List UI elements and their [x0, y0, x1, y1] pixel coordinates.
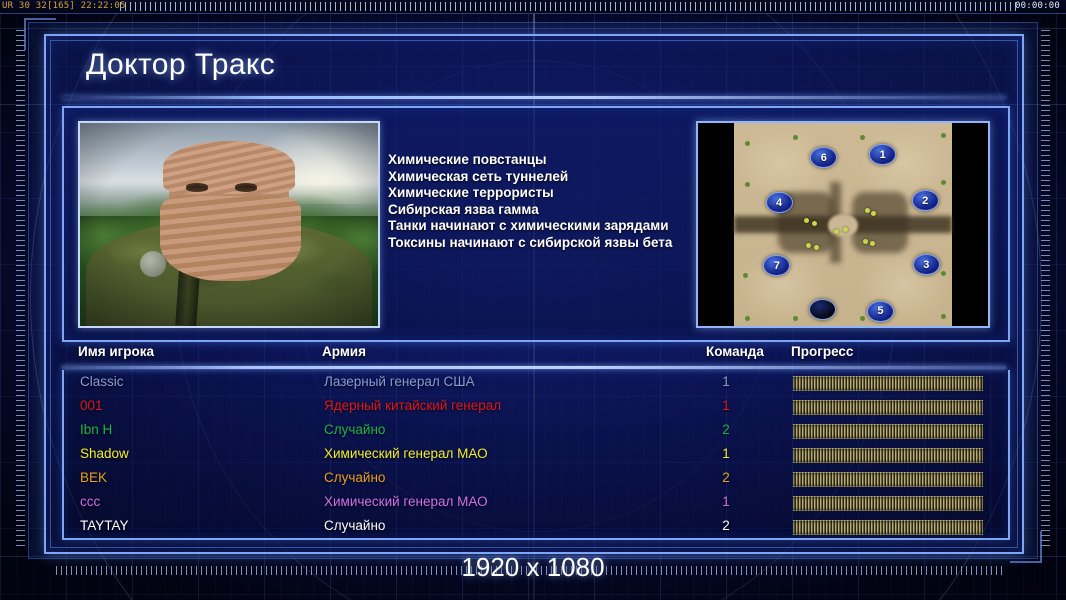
player-progress-bar — [793, 448, 983, 463]
minimap-start-4[interactable]: 4 — [766, 192, 793, 213]
player-army: Случайно — [324, 470, 385, 485]
description-line: Сибирская язва гамма — [388, 202, 738, 219]
player-progress-bar — [793, 496, 983, 511]
table-row[interactable]: TAYTAYСлучайно2 — [64, 515, 1008, 539]
player-team: 1 — [716, 374, 736, 389]
player-progress-bar — [793, 520, 983, 535]
hud-left-ruler — [16, 30, 25, 550]
player-progress-bar — [793, 472, 983, 487]
general-portrait — [78, 121, 380, 328]
table-row[interactable]: Ibn HСлучайно2 — [64, 419, 1008, 443]
page-title: Доктор Тракс — [86, 48, 275, 82]
hud-right-ruler — [1041, 30, 1050, 550]
player-team: 2 — [716, 518, 736, 533]
player-list: ClassicЛазерный генерал США1001Ядерный к… — [62, 370, 1010, 540]
player-progress-bar — [793, 376, 983, 391]
player-army: Лазерный генерал США — [324, 374, 475, 389]
player-name: Ibn H — [80, 422, 112, 437]
player-name: TAYTAY — [80, 518, 129, 533]
player-army: Случайно — [324, 518, 385, 533]
title-bar: Доктор Тракс — [62, 44, 1006, 98]
resolution-label: 1920 x 1080 — [0, 552, 1066, 583]
table-row[interactable]: ClassicЛазерный генерал США1 — [64, 371, 1008, 395]
column-header-progress: Прогресс — [791, 344, 853, 359]
minimap-start-7[interactable]: 7 — [763, 255, 790, 276]
minimap[interactable]: 6142735 — [696, 121, 990, 328]
minimap-start-1[interactable]: 1 — [869, 144, 896, 165]
player-progress-bar — [793, 424, 983, 439]
minimap-start-6[interactable]: 6 — [810, 147, 837, 168]
title-underline — [62, 96, 1006, 99]
description-line: Химические повстанцы — [388, 152, 738, 169]
table-row[interactable]: BEKСлучайно2 — [64, 467, 1008, 491]
description-line: Химическая сеть туннелей — [388, 169, 738, 186]
minimap-terrain: 6142735 — [734, 123, 952, 326]
info-panel: Химические повстанцы Химическая сеть тун… — [62, 106, 1010, 342]
portrait-image — [80, 123, 378, 326]
player-team: 1 — [716, 398, 736, 413]
player-team: 2 — [716, 422, 736, 437]
player-army: Химический генерал МАО — [324, 446, 488, 461]
player-army: Химический генерал МАО — [324, 494, 488, 509]
minimap-start-empty[interactable] — [809, 299, 836, 320]
player-army: Ядерный китайский генерал — [324, 398, 501, 413]
minimap-start-5[interactable]: 5 — [867, 301, 894, 322]
column-header-team: Команда — [706, 344, 764, 359]
table-row[interactable]: cccХимический генерал МАО1 — [64, 491, 1008, 515]
hud-timer-text: 00:00:00 — [1015, 1, 1060, 12]
table-row[interactable]: 001Ядерный китайский генерал1 — [64, 395, 1008, 419]
minimap-start-2[interactable]: 2 — [912, 190, 939, 211]
description-line: Химические террористы — [388, 185, 738, 202]
player-team: 2 — [716, 470, 736, 485]
player-army: Случайно — [324, 422, 385, 437]
table-row[interactable]: ShadowХимический генерал МАО1 — [64, 443, 1008, 467]
player-name: Shadow — [80, 446, 129, 461]
hud-status-text: UR 30 32[165] 22:22:05 — [2, 1, 126, 12]
player-progress-bar — [793, 400, 983, 415]
player-name: Classic — [80, 374, 124, 389]
minimap-start-3[interactable]: 3 — [913, 254, 940, 275]
column-header-name: Имя игрока — [78, 344, 154, 359]
description-line: Танки начинают с химическими зарядами — [388, 218, 738, 235]
player-list-header: Имя игрока Армия Команда Прогресс — [62, 344, 1006, 366]
hud-top-ruler — [120, 2, 1020, 11]
column-header-army: Армия — [322, 344, 366, 359]
header-divider — [62, 366, 1006, 369]
player-name: BEK — [80, 470, 107, 485]
description-line: Токсины начинают с сибирской язвы бета — [388, 235, 738, 252]
main-panel: Доктор Тракс Химические повста — [44, 34, 1024, 554]
player-team: 1 — [716, 446, 736, 461]
army-description: Химические повстанцы Химическая сеть тун… — [388, 152, 738, 251]
player-name: ccc — [80, 494, 100, 509]
player-name: 001 — [80, 398, 103, 413]
player-team: 1 — [716, 494, 736, 509]
